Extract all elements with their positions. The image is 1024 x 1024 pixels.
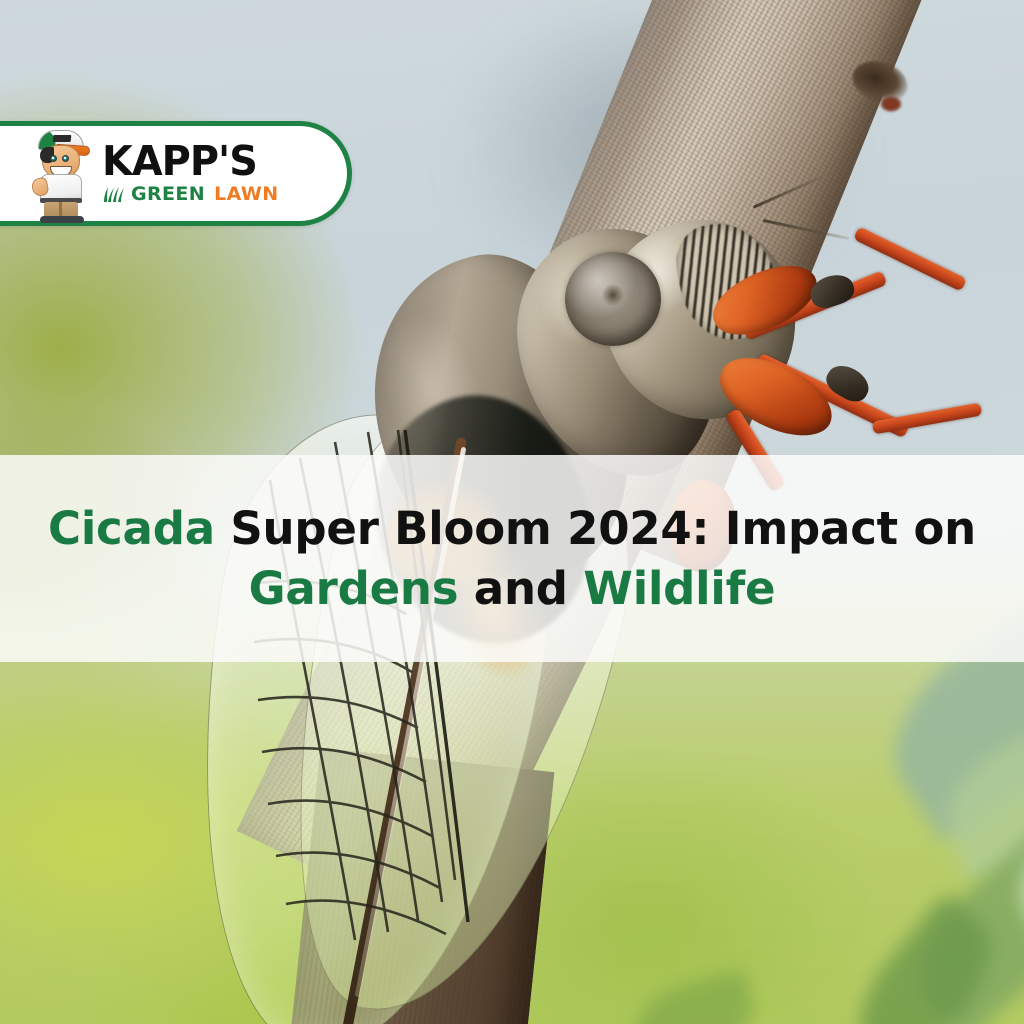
social-graphic-canvas: Cicada Super Bloom 2024: Impact on Garde… [0,0,1024,1024]
title-word-cicada: Cicada [48,502,215,555]
branch-knot-small-icon [880,96,902,112]
mascot-eye-right-icon [62,155,69,162]
mascot-eye-left-icon [50,155,57,162]
title-word-wildlife: Wildlife [583,562,775,615]
page-title-line-1: Cicada Super Bloom 2024: Impact on [48,502,976,555]
title-word-gardens: Gardens [249,562,459,615]
mascot-cap-logo-icon [53,135,72,142]
mascot-character-icon [30,128,92,220]
brand-logo-badge[interactable]: KAPP'S GREEN LAWN [0,121,352,226]
brand-wordmark: KAPP'S GREEN LAWN [102,142,279,206]
title-word-and: and [458,562,583,615]
grass-blades-icon [102,186,126,202]
brand-word-green: GREEN [131,183,205,205]
brand-word-lawn: LAWN [214,183,278,205]
brand-name-kapps: KAPP'S [102,142,273,181]
mascot-shoes-icon [40,216,84,223]
title-overlay-band: Cicada Super Bloom 2024: Impact on Garde… [0,455,1024,662]
title-rest-line-1: Super Bloom 2024: Impact on [215,502,976,555]
page-title-line-2: Gardens and Wildlife [249,562,776,615]
